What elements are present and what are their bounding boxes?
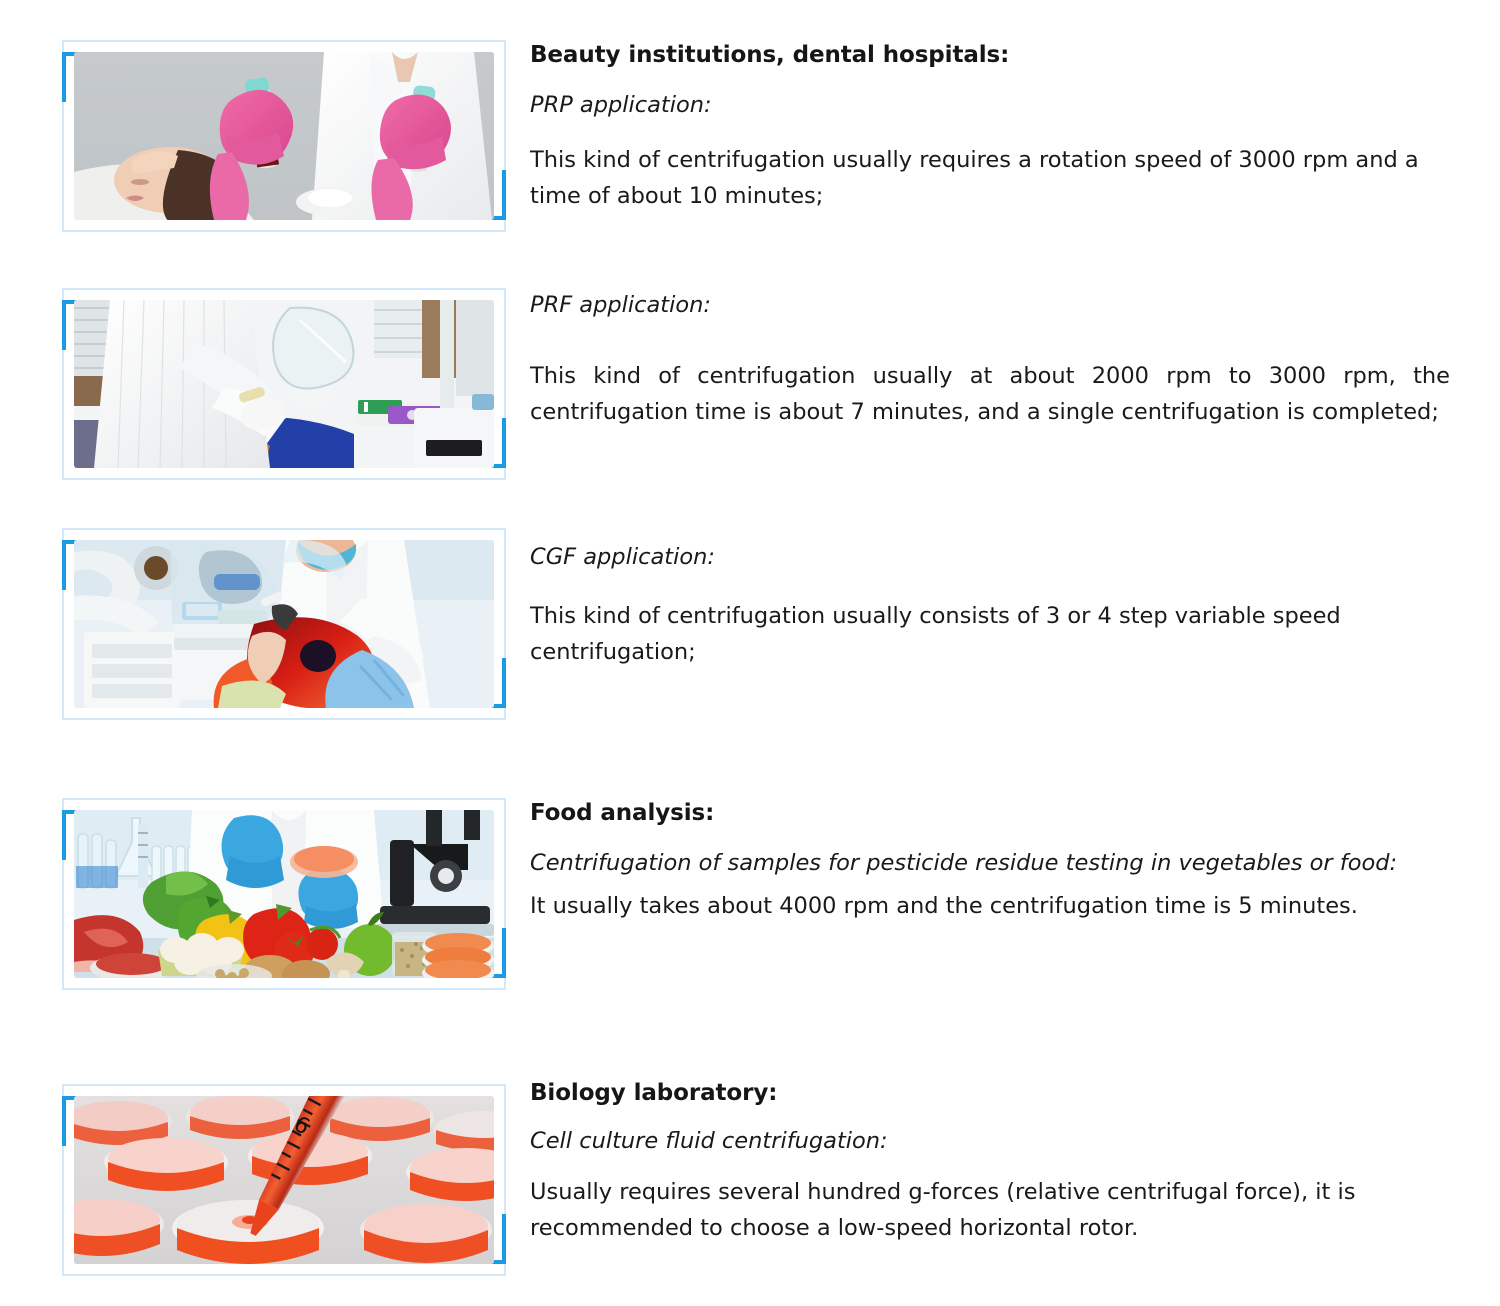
text-food: Food analysis: Centrifugation of samples… [530, 798, 1450, 924]
text-prp: Beauty institutions, dental hospitals: P… [530, 40, 1450, 214]
photo-dental-surgery [74, 540, 494, 708]
photo-prp-treatment [74, 52, 494, 220]
section-heading: Biology laboratory: [530, 1078, 1450, 1108]
section-body: This kind of centrifugation usually at a… [530, 358, 1450, 430]
figure-food [62, 798, 506, 990]
photo-food-lab [74, 810, 494, 978]
section-heading: Beauty institutions, dental hospitals: [530, 40, 1450, 70]
section-body: It usually takes about 4000 rpm and the … [530, 888, 1450, 924]
text-biology: Biology laboratory: Cell culture fluid c… [530, 1078, 1450, 1246]
section-subheading: Centrifugation of samples for pesticide … [530, 848, 1450, 878]
figure-prp [62, 40, 506, 232]
section-heading: Food analysis: [530, 798, 1450, 828]
section-body: Usually requires several hundred g-force… [530, 1174, 1450, 1246]
section-subheading: PRP application: [530, 90, 1450, 120]
section-subheading: CGF application: [530, 542, 1450, 572]
figure-cgf [62, 528, 506, 720]
section-body: This kind of centrifugation usually requ… [530, 142, 1450, 214]
photo-petri-dishes: 9 [74, 1096, 494, 1264]
application-brochure-page: Beauty institutions, dental hospitals: P… [0, 0, 1500, 1306]
text-cgf: CGF application: This kind of centrifuga… [530, 542, 1450, 670]
section-subheading: Cell culture fluid centrifugation: [530, 1126, 1450, 1156]
section-body: This kind of centrifugation usually cons… [530, 598, 1450, 670]
figure-prf [62, 288, 506, 480]
text-prf: PRF application: This kind of centrifuga… [530, 290, 1450, 430]
section-subheading: PRF application: [530, 290, 1450, 320]
figure-biology: 9 [62, 1084, 506, 1276]
photo-dental-clinic [74, 300, 494, 468]
